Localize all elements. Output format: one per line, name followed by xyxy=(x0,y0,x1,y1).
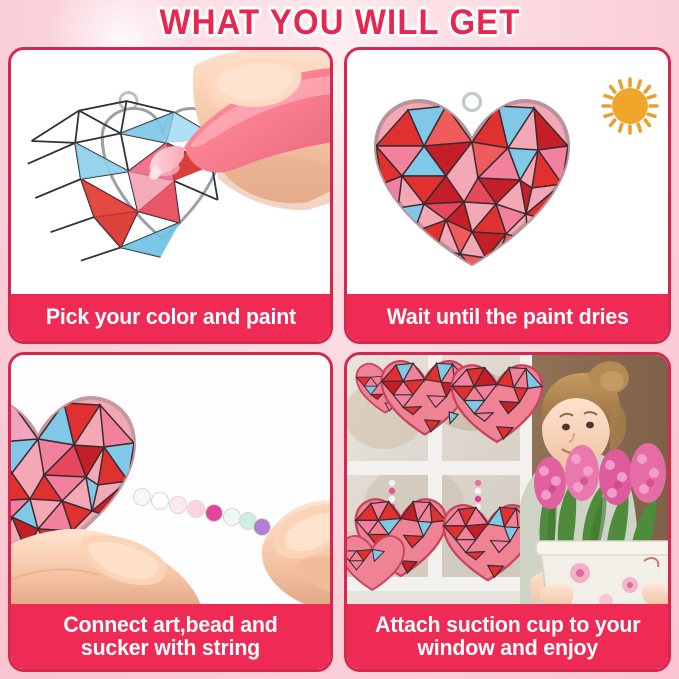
panel-4-photo xyxy=(347,355,668,610)
hyacinth-flower-pot xyxy=(534,443,668,610)
panel-2-caption-line-1: Wait until the paint dries xyxy=(387,306,629,328)
panel-1-photo xyxy=(11,50,330,300)
panel-1-caption-line-1: Pick your color and paint xyxy=(45,306,295,328)
bead-stringing-illustration xyxy=(11,355,330,610)
panel-3-caption-line-1: Connect art,bead and xyxy=(63,614,277,636)
panel-3-caption-line-2: sucker with string xyxy=(63,637,277,659)
panel-2-photo xyxy=(347,50,668,300)
panel-3-caption: Connect art,bead and sucker with string xyxy=(11,604,330,669)
step-panel-1: Pick your color and paint xyxy=(8,47,333,344)
sun-icon xyxy=(603,79,657,133)
infographic-root: WHAT YOU WILL GET xyxy=(0,0,679,679)
panel-4-caption-line-1: Attach suction cup to your xyxy=(375,614,640,636)
step-panel-3: Connect art,bead and sucker with string xyxy=(8,352,333,672)
panel-1-caption: Pick your color and paint xyxy=(11,294,330,341)
page-title: WHAT YOU WILL GET xyxy=(0,0,679,46)
step-panel-4: Attach suction cup to your window and en… xyxy=(344,352,671,672)
panel-3-photo xyxy=(11,355,330,610)
window-display-illustration xyxy=(347,355,668,610)
dried-heart-illustration xyxy=(347,50,668,300)
page-title-text: WHAT YOU WILL GET xyxy=(159,3,520,43)
panel-2-caption: Wait until the paint dries xyxy=(347,294,668,341)
paint-step-illustration xyxy=(11,50,330,300)
step-panel-2: Wait until the paint dries xyxy=(344,47,671,344)
panel-4-caption: Attach suction cup to your window and en… xyxy=(347,604,668,669)
panel-4-caption-line-2: window and enjoy xyxy=(375,637,640,659)
